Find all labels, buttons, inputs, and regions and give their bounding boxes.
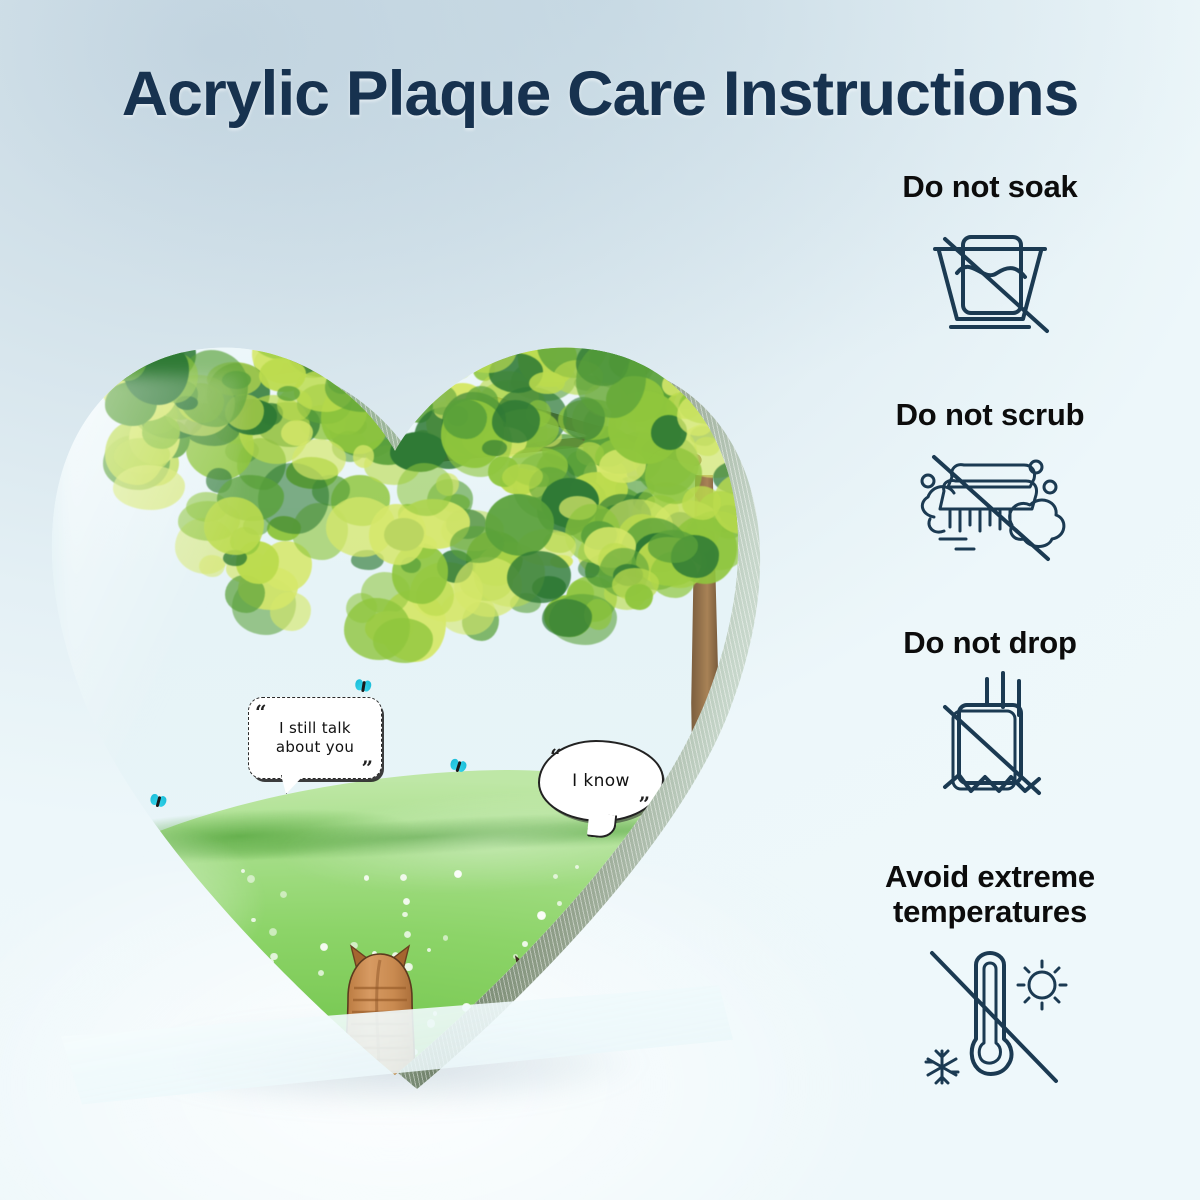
care-label-no-drop: Do not drop [800, 626, 1180, 661]
speech-bubble-1-line2: about you [276, 738, 354, 757]
tree-leaf-cluster [625, 584, 653, 610]
tree-leaf-cluster [482, 440, 507, 456]
meadow-flower [269, 928, 277, 936]
tree-leaf-cluster [450, 526, 504, 562]
care-item-avoid-extreme-temperatures: Avoid extreme temperatures [800, 860, 1180, 1085]
tree-leaf-cluster [502, 175, 527, 177]
no-soak-icon [905, 211, 1075, 341]
meadow-flower [400, 874, 408, 882]
care-instructions-page: Acrylic Plaque Care Instructions [0, 0, 1200, 1200]
care-label-avoid-extreme-temperatures: Avoid extreme temperatures [800, 860, 1180, 929]
tree-leaf-cluster [436, 175, 480, 187]
acrylic-plaque: Peanut [30, 175, 790, 1135]
meadow-flower [280, 891, 287, 898]
sun-icon [1018, 961, 1066, 1009]
meadow-flower [247, 875, 255, 883]
tree-leaf-cluster [353, 445, 375, 468]
care-instruction-list: Do not soak Do not scrub [800, 170, 1180, 1160]
meadow-flower [403, 898, 410, 905]
meadow-flower [251, 918, 256, 923]
tree-leaf-cluster [292, 439, 346, 480]
tree-leaf-cluster [682, 486, 721, 520]
speech-bubble-2-line1: I know [572, 771, 630, 791]
speech-bubble-1: “ ” I still talk about you [248, 697, 382, 779]
tree-leaf-cluster [397, 463, 453, 516]
care-label-no-soak: Do not soak [800, 170, 1180, 205]
tree-leaf-cluster [507, 551, 570, 603]
care-item-no-drop: Do not drop [800, 626, 1180, 803]
tree-leaf-cluster [346, 593, 377, 623]
care-label-line2: temperatures [800, 895, 1180, 930]
meadow-flower [537, 911, 546, 920]
no-drop-icon [905, 667, 1075, 803]
meadow-flower [402, 912, 408, 918]
tree-leaf-cluster [270, 592, 310, 631]
tree-leaf-cluster [502, 464, 543, 490]
page-title: Acrylic Plaque Care Instructions [0, 58, 1200, 130]
care-item-no-soak: Do not soak [800, 170, 1180, 341]
meadow-flower [553, 874, 558, 879]
no-scrub-icon [900, 439, 1080, 565]
no-extreme-temperature-icon [890, 935, 1090, 1085]
care-label-no-scrub: Do not scrub [800, 398, 1180, 433]
tree-leaf-cluster [490, 175, 515, 179]
tree-leaf-cluster [199, 555, 225, 577]
meadow-flower [575, 865, 579, 869]
tree-leaf-cluster [277, 386, 300, 401]
care-label-line1: Avoid extreme [800, 860, 1180, 895]
snowflake-icon [926, 1051, 958, 1083]
tree-leaf-cluster [648, 530, 698, 562]
tree-leaf-cluster [396, 175, 428, 188]
tree-leaf-cluster [113, 465, 185, 510]
butterfly-icon [354, 679, 372, 694]
tree-leaf-cluster [443, 399, 487, 439]
care-item-no-scrub: Do not scrub [800, 398, 1180, 565]
meadow-flower [454, 870, 462, 878]
speech-bubble-1-line1: I still talk [279, 719, 351, 738]
meadow-flower [241, 869, 245, 873]
speech-bubble-2: “ ” I know [538, 740, 664, 822]
meadow-flower [557, 901, 562, 906]
tree-leaf-cluster [492, 400, 540, 442]
meadow-flower [443, 935, 449, 941]
meadow-flower [364, 875, 370, 881]
